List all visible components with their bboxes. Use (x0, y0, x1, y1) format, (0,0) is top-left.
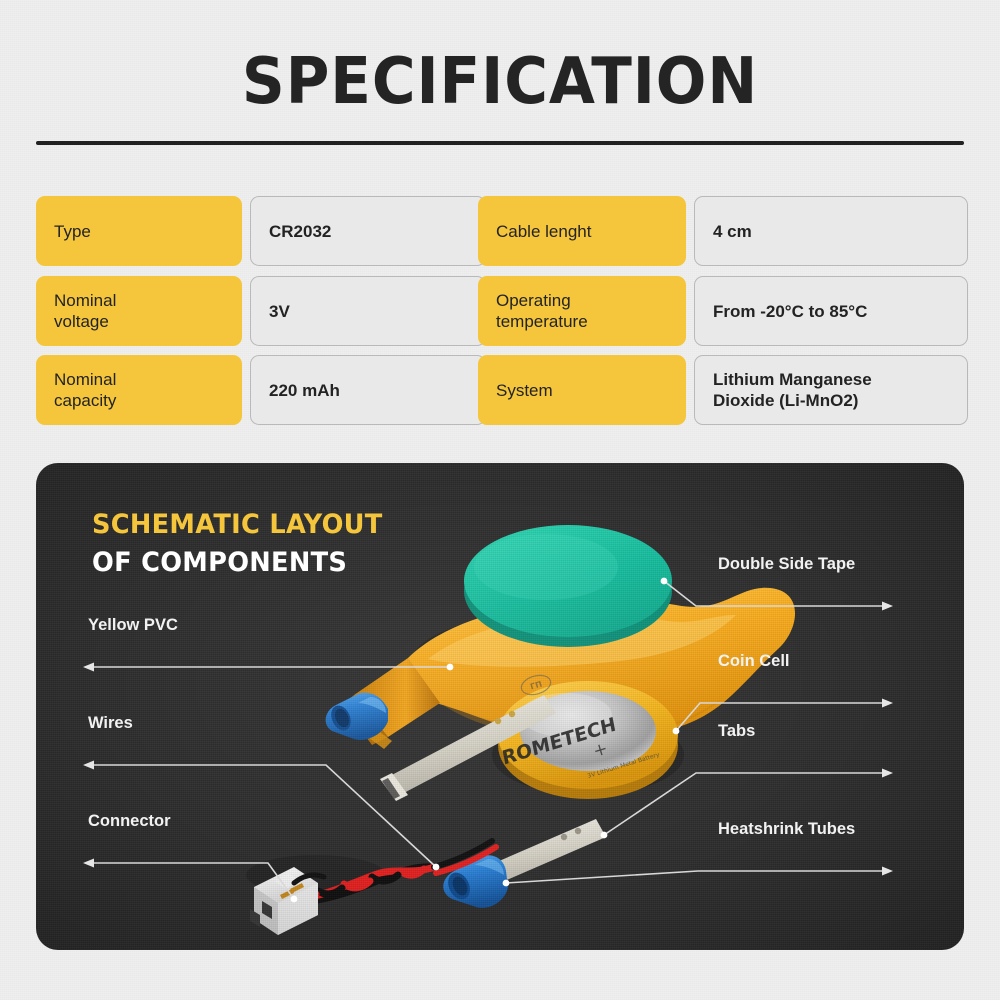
spec-value-nominal-voltage: 3V (250, 276, 486, 346)
spec-value-operating-temperature: From -20°C to 85°C (694, 276, 968, 346)
schematic-heading-line1: SCHEMATIC LAYOUT (92, 509, 383, 540)
double-side-tape-disc (464, 525, 672, 647)
heatshrink-tube-upper (326, 693, 388, 740)
callout-label-wires: Wires (88, 713, 133, 733)
spec-value-system: Lithium ManganeseDioxide (Li-MnO2) (694, 355, 968, 425)
callout-label-coin-cell: Coin Cell (718, 651, 790, 671)
spec-value-cable-length: 4 cm (694, 196, 968, 266)
spec-key-operating-temperature: Operatingtemperature (478, 276, 686, 346)
callout-label-yellow-pvc: Yellow PVC (88, 615, 178, 635)
page-title: SPECIFICATION (35, 46, 965, 118)
spec-row: Nominalcapacity 220 mAh (36, 355, 486, 425)
spec-row: System Lithium ManganeseDioxide (Li-MnO2… (478, 355, 968, 425)
spec-value-type: CR2032 (250, 196, 486, 266)
spec-key-type: Type (36, 196, 242, 266)
callout-label-double-side-tape: Double Side Tape (718, 554, 855, 574)
schematic-heading-line2: OF COMPONENTS (92, 547, 383, 578)
spec-key-cable-length: Cable lenght (478, 196, 686, 266)
spec-row: Nominalvoltage 3V (36, 276, 486, 346)
spec-key-nominal-capacity: Nominalcapacity (36, 355, 242, 425)
spec-key-nominal-voltage: Nominalvoltage (36, 276, 242, 346)
spec-row: Type CR2032 (36, 196, 486, 266)
schematic-layout-panel: ROMETECH + 3V Lithium Metal Battery ГП (36, 463, 964, 950)
spec-row: Cable lenght 4 cm (478, 196, 968, 266)
schematic-heading: SCHEMATIC LAYOUT OF COMPONENTS (92, 509, 398, 578)
spec-value-nominal-capacity: 220 mAh (250, 355, 486, 425)
spec-row: Operatingtemperature From -20°C to 85°C (478, 276, 968, 346)
spec-key-system: System (478, 355, 686, 425)
callout-label-connector: Connector (88, 811, 171, 831)
callout-label-heatshrink-tubes: Heatshrink Tubes (718, 819, 855, 839)
callout-label-tabs: Tabs (718, 721, 755, 741)
title-divider (36, 141, 964, 145)
